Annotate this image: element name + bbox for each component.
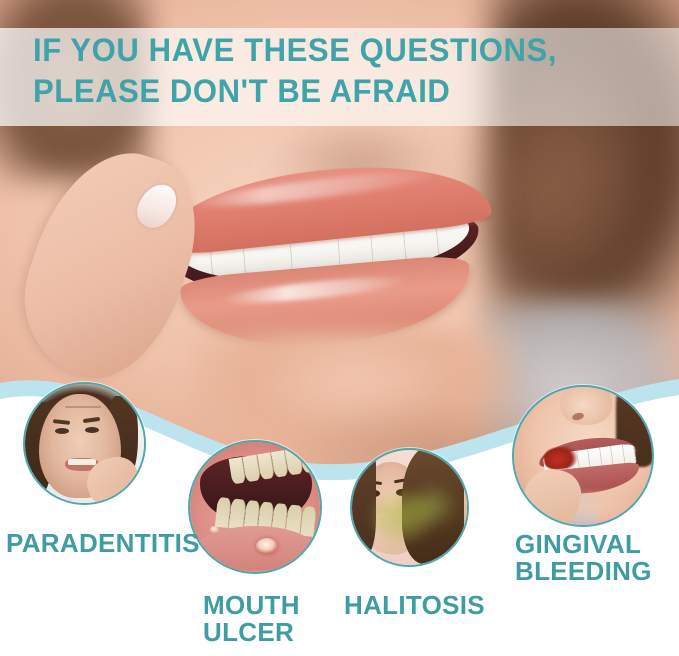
- symptom-image-halitosis[interactable]: [350, 448, 469, 567]
- symptom-label-gingival-bleeding: GINGIVAL BLEEDING: [515, 531, 652, 585]
- symptom-label-mouth-ulcer: MOUTH ULCER: [203, 592, 300, 646]
- symptom-label-paradentitis: PARADENTITIS: [6, 530, 200, 557]
- title-line-2: PLEASE DON'T BE AFRAID: [33, 71, 634, 112]
- symptom-label-halitosis: HALITOSIS: [344, 592, 485, 619]
- page-title: IF YOU HAVE THESE QUESTIONS, PLEASE DON'…: [33, 30, 634, 112]
- symptom-image-mouth-ulcer[interactable]: [188, 440, 322, 574]
- symptom-image-paradentitis[interactable]: [23, 382, 146, 505]
- title-line-1: IF YOU HAVE THESE QUESTIONS,: [33, 32, 557, 68]
- dental-symptoms-poster: IF YOU HAVE THESE QUESTIONS, PLEASE DON'…: [0, 0, 679, 656]
- symptom-image-gingival-bleeding[interactable]: [512, 385, 654, 527]
